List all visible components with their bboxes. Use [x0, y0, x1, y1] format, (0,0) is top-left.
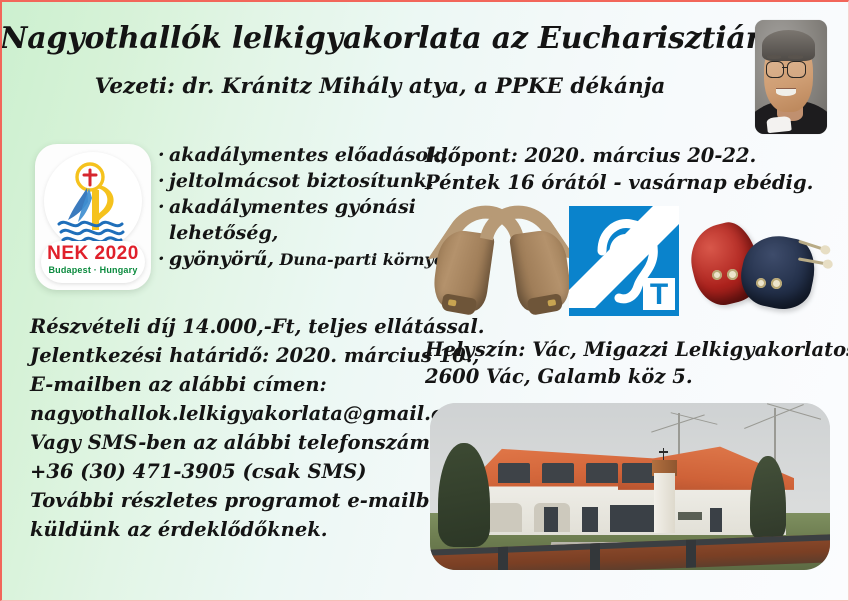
features-list: ·akadálymentes előadások, ·jeltolmácsot … [158, 142, 430, 273]
hearing-aid-right [504, 203, 570, 315]
logo-name: NEK 2020 [41, 243, 145, 265]
fence-post-1 [498, 546, 508, 570]
building-window-3 [710, 508, 722, 531]
list-item-continuation: lehetőség, [158, 220, 430, 246]
waves-icon [59, 222, 123, 241]
building-door-1 [544, 507, 558, 532]
schedule-date: Időpont: 2020. március 20-22. [425, 142, 813, 169]
deadline-line: Jelentkezési határidő: 2020. március 10.… [30, 341, 485, 370]
building-bell-tower [654, 473, 675, 533]
ear-mold-vent-red-1 [712, 270, 722, 280]
building-window-1 [582, 507, 598, 532]
logo-caption: NEK 2020 Budapest · Hungary [41, 241, 145, 283]
sms-intro-line: Vagy SMS-ben az alábbi telefonszámon: [30, 428, 485, 457]
telecoil-letter: T [650, 278, 668, 311]
program-info-line-2: küldünk az érdeklődőknek. [30, 515, 485, 544]
ear-molds-photo [686, 220, 832, 316]
venue-block: Helyszín: Vác, Migazzi Lelkigyakorlatos … [425, 336, 849, 390]
building-arch-1 [486, 503, 522, 531]
portrait-eyebrow-right [788, 55, 802, 58]
building-dormer-4 [622, 463, 654, 483]
phone-number[interactable]: +36 (30) 471-3905 (csak SMS) [30, 457, 485, 486]
bullet-marker: · [158, 194, 169, 220]
list-item: ·akadálymentes előadások, [158, 142, 430, 168]
poster-subtitle: Vezeti: dr. Kránitz Mihály atya, a PPKE … [0, 74, 760, 99]
list-item-label: lehetőség, [169, 222, 278, 244]
hearing-loop-sign: T [569, 206, 679, 316]
bullet-marker: · [158, 142, 169, 168]
cross-icon [84, 170, 96, 185]
building-dormer-1 [498, 463, 530, 483]
list-item-label: jeltolmácsot biztosítunk, [169, 170, 433, 192]
ear-mold-vent-blue-2 [771, 278, 782, 289]
eyeglasses-lens-left [766, 61, 785, 78]
fence-post-3 [686, 539, 696, 568]
hearing-loop-icon: T [569, 206, 679, 316]
schedule-block: Időpont: 2020. március 20-22. Péntek 16 … [425, 142, 813, 196]
venue-address: 2600 Vác, Galamb köz 5. [425, 363, 849, 390]
page-title: Nagyothallók lelkigyakorlata az Eucharis… [0, 21, 740, 56]
event-poster: Nagyothallók lelkigyakorlata az Eucharis… [0, 0, 849, 601]
building-dormer-2 [542, 463, 574, 483]
ear-mold-vent-blue-1 [756, 278, 766, 288]
program-info-line-1: További részletes programot e-mailben [30, 486, 485, 515]
bare-tree-trunk-1 [678, 413, 680, 456]
logo-tagline: Budapest · Hungary [41, 265, 145, 276]
list-item-label: gyönyörű, [169, 248, 274, 270]
fence-post-2 [590, 543, 600, 570]
list-item: ·akadálymentes gyónási [158, 194, 430, 220]
list-item-label: akadálymentes előadások, [169, 144, 448, 166]
tube-tip [819, 244, 831, 256]
email-intro-line: E-mailben az alábbi címen: [30, 370, 485, 399]
registration-block: Részvételi díj 14.000,-Ft, teljes ellátá… [30, 312, 485, 544]
roof-cross-icon [663, 448, 664, 460]
schedule-hours: Péntek 16 órától - vasárnap ebédig. [425, 169, 813, 196]
presenter-portrait [755, 20, 827, 134]
portrait-eyebrow-left [767, 55, 781, 58]
email-address[interactable]: nagyothallok.lelkigyakorlata@gmail.com [30, 399, 485, 428]
clerical-collar [766, 116, 792, 133]
list-item: ·jeltolmácsot biztosítunk, [158, 168, 430, 194]
list-item-label: akadálymentes gyónási [169, 196, 416, 218]
eyeglasses-bridge [782, 67, 787, 69]
hearing-aids-photo [434, 203, 570, 315]
building-window-2 [610, 505, 654, 532]
ear-mold-vent-red-2 [727, 269, 738, 280]
bullet-marker: · [158, 168, 169, 194]
bullet-marker: · [158, 246, 169, 272]
building-bench [678, 512, 702, 520]
tube-tip [822, 259, 833, 270]
fee-line: Részvételi díj 14.000,-Ft, teljes ellátá… [30, 312, 485, 341]
venue-building-photo [430, 403, 830, 570]
eyeglasses-lens-right [787, 61, 806, 78]
list-item: ·gyönyörű, Duna-parti környezet [158, 246, 430, 273]
venue-name: Helyszín: Vác, Migazzi Lelkigyakorlatos … [425, 336, 849, 363]
nek-2020-logo: NEK 2020 Budapest · Hungary [35, 144, 151, 290]
building-dormer-3 [586, 463, 618, 483]
